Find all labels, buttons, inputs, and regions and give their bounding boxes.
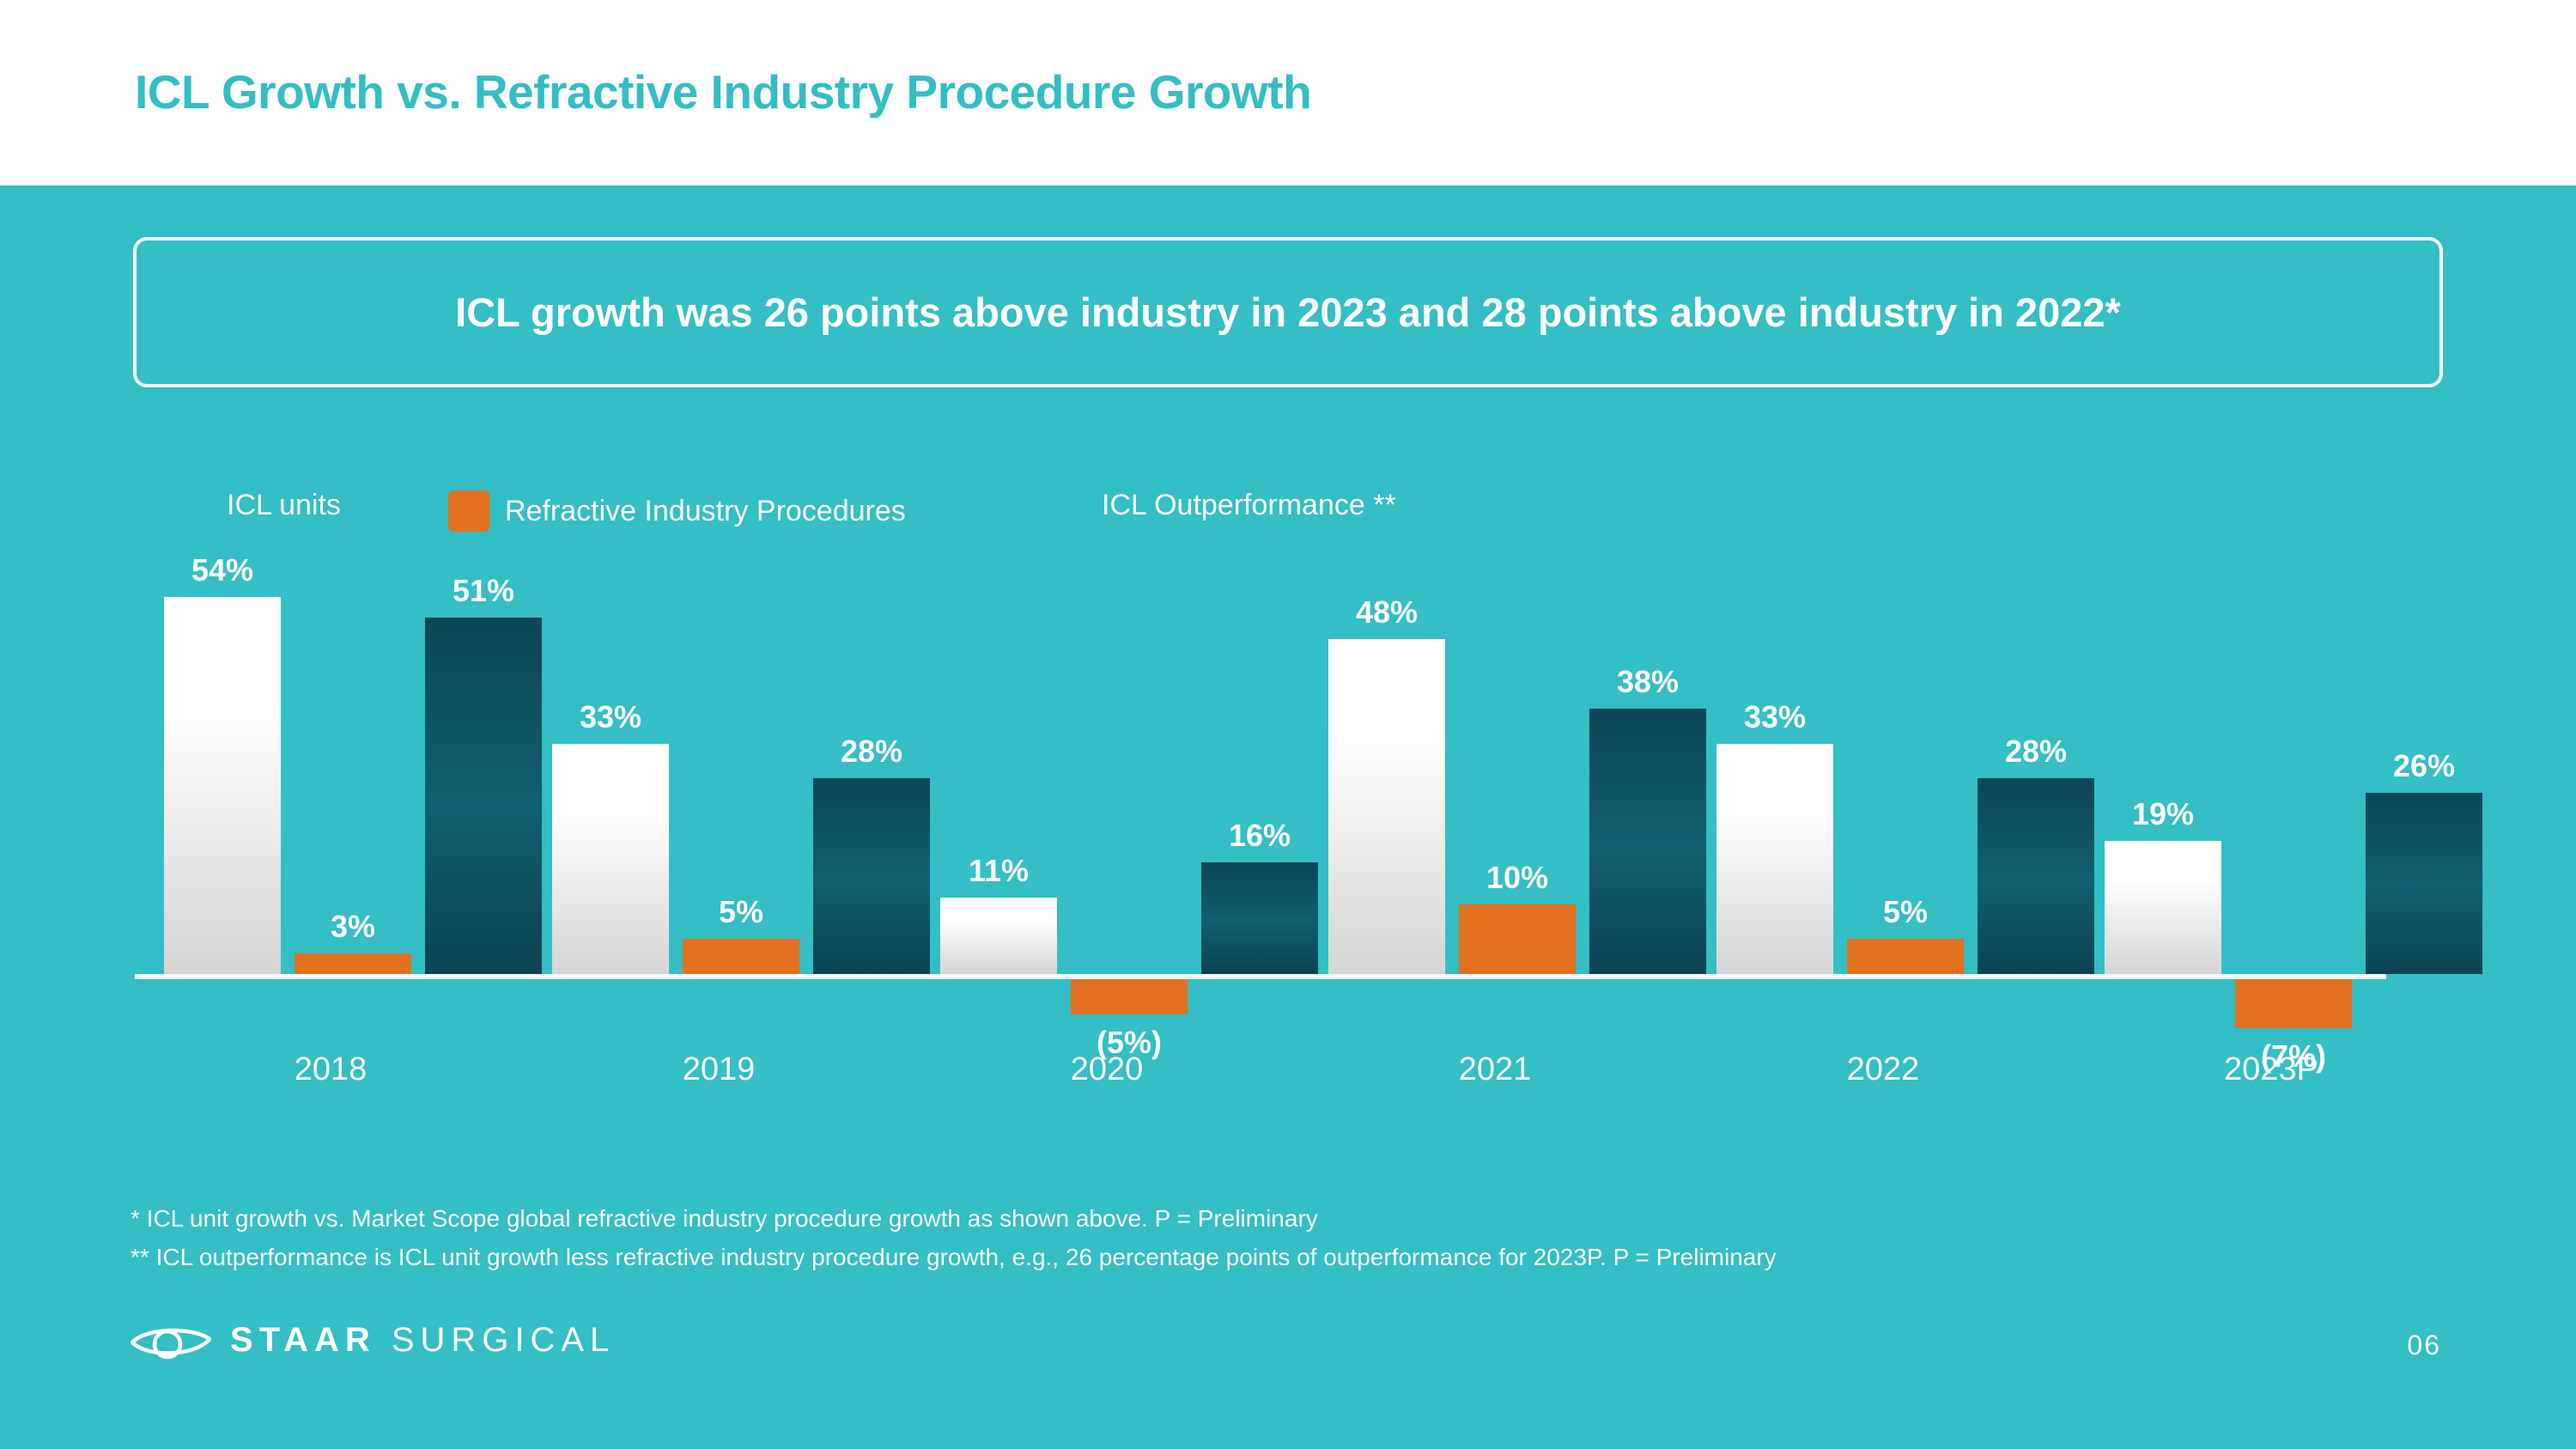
- slide-footer: STAAR SURGICAL 06: [0, 1311, 2576, 1431]
- bar-value-label-icl-2022: 33%: [1680, 699, 1869, 735]
- bar-group-bars: 11%(5%)16%: [927, 555, 1287, 974]
- bar-group-2019: 33%5%28%2019: [538, 555, 899, 1414]
- bar-out-2021[interactable]: [1589, 709, 1706, 974]
- legend-label-refractive-industry-procedures: Refractive Industry Procedures: [505, 496, 906, 526]
- bar-group-bars: 33%5%28%: [538, 555, 899, 974]
- bar-rip-2021[interactable]: [1459, 904, 1576, 974]
- bar-group-2022: 33%5%28%2022: [1703, 555, 2063, 1414]
- x-axis-label-2021: 2021: [1315, 1051, 1675, 1088]
- bar-out-2018[interactable]: [425, 618, 542, 974]
- slide-body: ICL growth was 26 points above industry …: [0, 186, 2576, 1449]
- bar-value-label-rip-2018: 3%: [258, 909, 447, 945]
- bar-rip-2023p[interactable]: [2235, 979, 2352, 1028]
- bar-value-label-icl-2023p: 19%: [2069, 796, 2257, 832]
- chart-legend: ICL units Refractive Industry Procedures…: [0, 490, 2576, 542]
- slide-header: ICL Growth vs. Refractive Industry Proce…: [0, 0, 2576, 186]
- bar-group-2021: 48%10%38%2021: [1315, 555, 1675, 1414]
- legend-item-refractive-industry-procedures[interactable]: Refractive Industry Procedures: [448, 490, 906, 532]
- legend-label-icl-units: ICL units: [227, 490, 341, 520]
- eye-logo-icon: [131, 1322, 211, 1360]
- bar-out-2023p[interactable]: [2366, 793, 2482, 974]
- x-axis-label-2018: 2018: [150, 1051, 511, 1088]
- bar-group-2018: 54%3%51%2018: [150, 555, 511, 1414]
- footnotes: * ICL unit growth vs. Market Scope globa…: [131, 1199, 2449, 1277]
- bar-value-label-icl-2021: 48%: [1292, 594, 1481, 630]
- x-axis-label-2022: 2022: [1703, 1051, 2063, 1088]
- bar-icl-2022[interactable]: [1716, 744, 1833, 974]
- bar-icl-2021[interactable]: [1328, 639, 1445, 974]
- bar-icl-2023p[interactable]: [2105, 841, 2221, 974]
- bar-value-label-icl-2018: 54%: [128, 552, 317, 588]
- bar-value-label-icl-2019: 33%: [516, 699, 705, 735]
- bar-value-label-rip-2019: 5%: [647, 894, 835, 930]
- bar-group-bars: 19%(7%)26%: [2091, 555, 2451, 974]
- bar-icl-2020[interactable]: [940, 898, 1057, 974]
- legend-item-icl-units[interactable]: ICL units: [227, 490, 341, 520]
- bar-out-2020[interactable]: [1201, 862, 1318, 974]
- callout-text: ICL growth was 26 points above industry …: [455, 289, 2121, 336]
- x-axis-label-2020: 2020: [927, 1051, 1287, 1088]
- footnote-2: ** ICL outperformance is ICL unit growth…: [131, 1238, 2449, 1276]
- logo-text-surgical: SURGICAL: [392, 1321, 616, 1360]
- bar-group-bars: 54%3%51%: [150, 555, 511, 974]
- bar-group-2023p: 19%(7%)26%2023P: [2091, 555, 2451, 1414]
- footnote-1: * ICL unit growth vs. Market Scope globa…: [131, 1199, 2449, 1238]
- bar-value-label-out-2023p: 26%: [2330, 748, 2518, 784]
- bar-group-bars: 33%5%28%: [1703, 555, 2063, 974]
- bar-rip-2022[interactable]: [1847, 939, 1964, 974]
- legend-item-icl-outperformance[interactable]: ICL Outperformance **: [1102, 490, 1396, 520]
- bar-rip-2018[interactable]: [295, 953, 411, 974]
- callout-box: ICL growth was 26 points above industry …: [133, 237, 2443, 387]
- bar-icl-2019[interactable]: [552, 744, 669, 974]
- bar-value-label-rip-2022: 5%: [1811, 894, 2000, 930]
- page-number: 06: [2407, 1330, 2441, 1361]
- x-axis-label-2023p: 2023P: [2091, 1051, 2451, 1088]
- legend-swatch-orange-icon: [448, 490, 489, 532]
- bar-group-2020: 11%(5%)16%2020: [927, 555, 1287, 1414]
- bar-group-bars: 48%10%38%: [1315, 555, 1675, 974]
- bar-chart: 54%3%51%201833%5%28%201911%(5%)16%202048…: [0, 555, 2576, 1414]
- bar-rip-2020[interactable]: [1071, 979, 1188, 1014]
- page-title: ICL Growth vs. Refractive Industry Proce…: [135, 64, 1311, 119]
- bar-rip-2019[interactable]: [683, 939, 799, 974]
- legend-label-icl-outperformance: ICL Outperformance **: [1102, 490, 1396, 520]
- staar-surgical-logo[interactable]: STAAR SURGICAL: [131, 1321, 615, 1360]
- bar-value-label-icl-2020: 11%: [904, 853, 1093, 889]
- logo-text-staar: STAAR: [230, 1321, 376, 1360]
- x-axis-label-2019: 2019: [538, 1051, 899, 1088]
- bar-value-label-rip-2021: 10%: [1423, 860, 1612, 896]
